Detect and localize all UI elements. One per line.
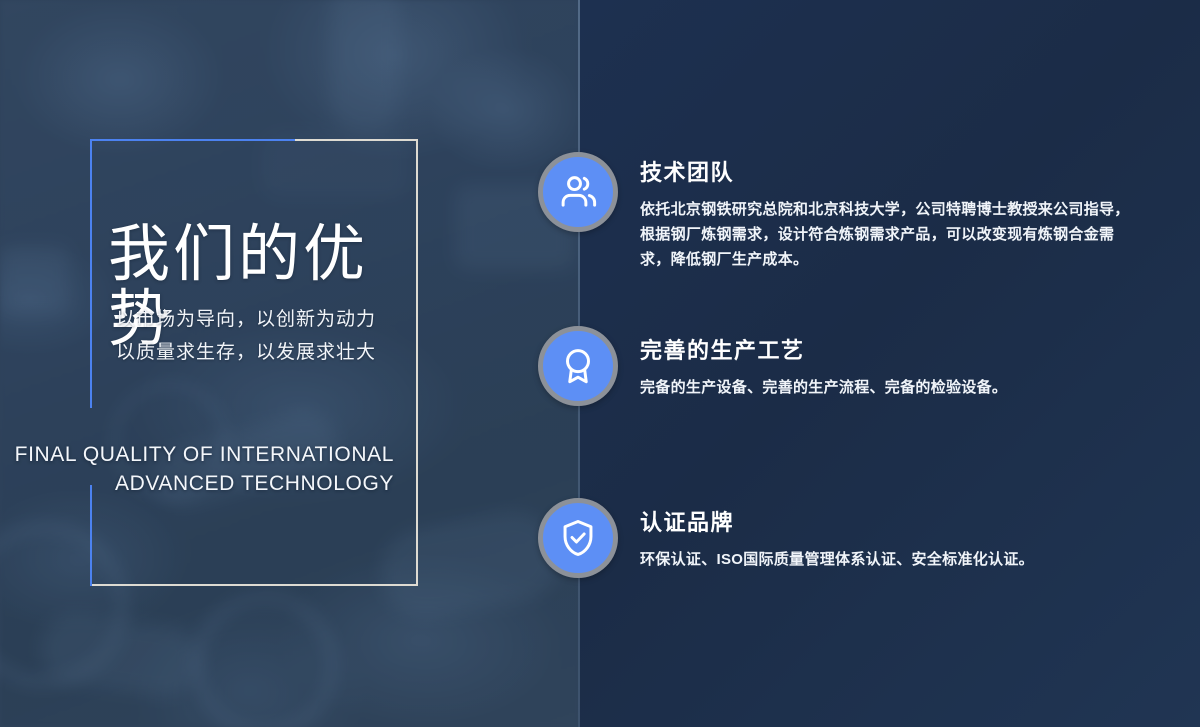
feature-description: 环保认证、ISO国际质量管理体系认证、安全标准化认证。 xyxy=(640,547,1132,572)
feature-text-block: 认证品牌 环保认证、ISO国际质量管理体系认证、安全标准化认证。 xyxy=(640,508,1132,572)
feature-list: 技术团队 依托北京钢铁研究总院和北京科技大学，公司特聘博士教授来公司指导，根据钢… xyxy=(580,0,1200,727)
shield-check-icon xyxy=(557,517,599,559)
tagline: 以市场为导向，以创新为动力 以质量求生存，以发展求壮大 xyxy=(116,303,416,369)
frame-bottom-border xyxy=(90,584,418,586)
tagline-line-1: 以市场为导向，以创新为动力 xyxy=(116,303,416,336)
feature-title: 技术团队 xyxy=(640,158,1132,188)
frame-top-accent-segment xyxy=(90,139,295,141)
english-subtitle-line-2: ADVANCED TECHNOLOGY xyxy=(10,469,394,498)
feature-description: 完备的生产设备、完善的生产流程、完备的检验设备。 xyxy=(640,375,1132,400)
frame-left-accent-upper xyxy=(90,139,92,408)
award-icon xyxy=(557,345,599,387)
feature-text-block: 完善的生产工艺 完备的生产设备、完善的生产流程、完备的检验设备。 xyxy=(640,336,1132,400)
frame-top-light-segment xyxy=(295,139,418,141)
feature-icon-badge xyxy=(538,326,618,406)
tagline-line-2: 以质量求生存，以发展求壮大 xyxy=(116,336,416,369)
feature-icon-badge xyxy=(538,152,618,232)
feature-description: 依托北京钢铁研究总院和北京科技大学，公司特聘博士教授来公司指导，根据钢厂炼钢需求… xyxy=(640,197,1132,272)
frame-left-accent-lower xyxy=(90,485,92,586)
left-panel: 我们的优势 以市场为导向，以创新为动力 以质量求生存，以发展求壮大 FINAL … xyxy=(0,0,580,727)
users-icon xyxy=(557,171,599,213)
feature-title: 认证品牌 xyxy=(640,508,1132,538)
right-panel: 技术团队 依托北京钢铁研究总院和北京科技大学，公司特聘博士教授来公司指导，根据钢… xyxy=(580,0,1200,727)
english-subtitle: FINAL QUALITY OF INTERNATIONAL ADVANCED … xyxy=(10,440,394,498)
feature-icon-badge xyxy=(538,498,618,578)
slide-canvas: 我们的优势 以市场为导向，以创新为动力 以质量求生存，以发展求壮大 FINAL … xyxy=(0,0,1200,727)
feature-title: 完善的生产工艺 xyxy=(640,336,1132,366)
frame-right-border xyxy=(416,139,418,586)
english-subtitle-line-1: FINAL QUALITY OF INTERNATIONAL xyxy=(10,440,394,469)
feature-text-block: 技术团队 依托北京钢铁研究总院和北京科技大学，公司特聘博士教授来公司指导，根据钢… xyxy=(640,158,1132,272)
